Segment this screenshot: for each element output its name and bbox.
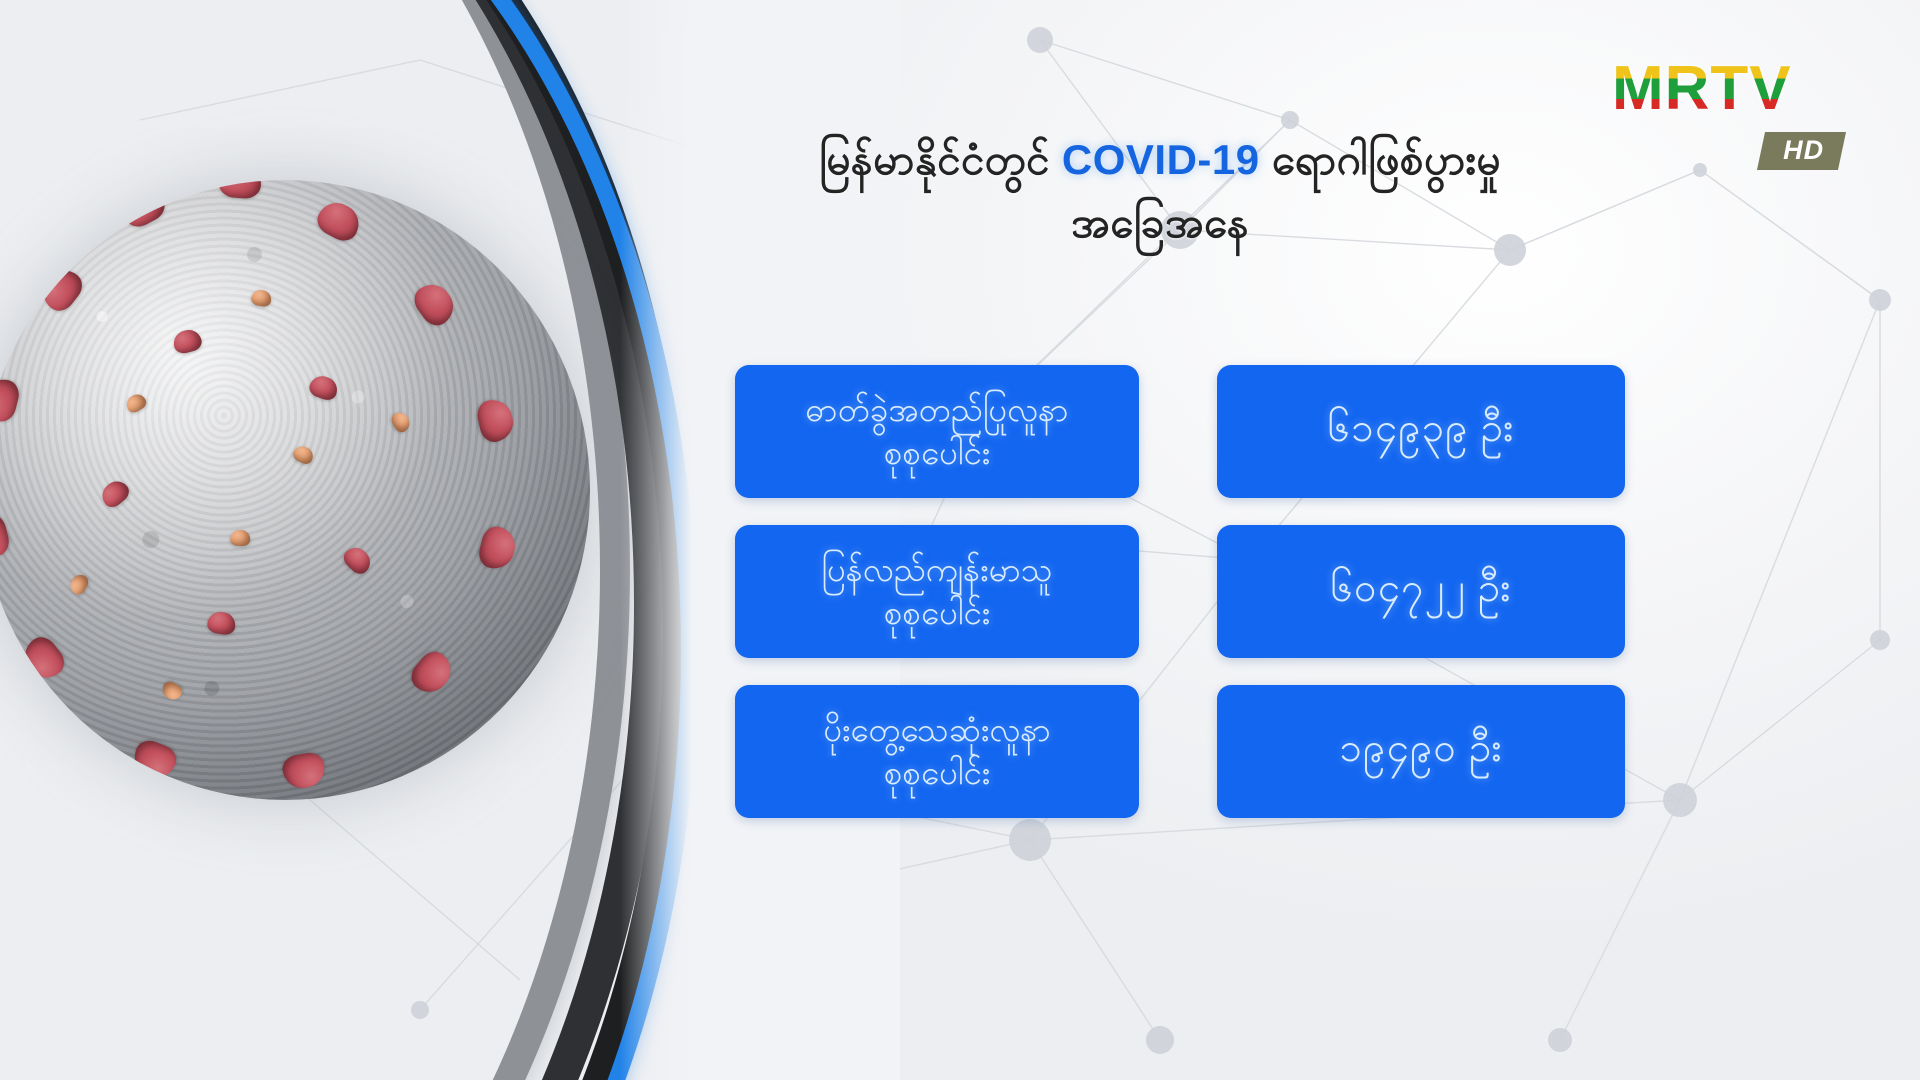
stat-label-confirmed: ဓာတ်ခွဲအတည်ပြုလူနာ စုစုပေါင်း (735, 365, 1139, 498)
stat-value-recovered: ၆၀၄၇၂၂ ဦး (1217, 525, 1625, 658)
stat-label-confirmed-line1: ဓာတ်ခွဲအတည်ပြုလူနာ (805, 391, 1068, 428)
stat-label-recovered-line1: ပြန်လည်ကျန်းမာသူ (821, 551, 1053, 588)
page-title: မြန်မာနိုင်ငံတွင် COVID-19 ရောဂါဖြစ်ပွား… (700, 128, 1620, 254)
stat-label-recovered-line2: စုစုပေါင်း (884, 594, 990, 631)
headline-segment-after: ရောဂါဖြစ်ပွားမှု (1272, 136, 1501, 183)
stat-label-confirmed-line2: စုစုပေါင်း (884, 434, 990, 471)
stat-row-deaths: ပိုးတွေ့သေဆုံးလူနာ စုစုပေါင်း ၁၉၄၉၀ ဦး (735, 685, 1625, 818)
stat-value-confirmed: ၆၁၄၉၃၉ ဦး (1217, 365, 1625, 498)
stat-label-recovered: ပြန်လည်ကျန်းမာသူ စုစုပေါင်း (735, 525, 1139, 658)
hd-badge: HD (1757, 132, 1846, 170)
stat-row-confirmed: ဓာတ်ခွဲအတည်ပြုလူနာ စုစုပေါင်း ၆၁၄၉၃၉ ဦး (735, 365, 1625, 498)
stat-label-deaths-line1: ပိုးတွေ့သေဆုံးလူနာ (823, 711, 1051, 748)
mrtv-wordmark: MRTV (1612, 58, 1842, 120)
headline-accent-covid19: COVID-19 (1062, 136, 1260, 183)
stat-label-deaths-line2: စုစုပေါင်း (884, 754, 990, 791)
mrtv-channel-logo: MRTV HD (1612, 58, 1842, 166)
covid-statistics-grid: ဓာတ်ခွဲအတည်ပြုလူနာ စုစုပေါင်း ၆၁၄၉၃၉ ဦး … (735, 365, 1625, 818)
stat-value-deaths: ၁၉၄၉၀ ဦး (1217, 685, 1625, 818)
hd-badge-label: HD (1783, 135, 1824, 166)
stat-label-deaths: ပိုးတွေ့သေဆုံးလူနာ စုစုပေါင်း (735, 685, 1139, 818)
coronavirus-illustration (0, 180, 590, 800)
virus-spike (230, 530, 251, 547)
headline-segment-before: မြန်မာနိုင်ငံတွင် (819, 136, 1050, 183)
broadcast-graphic-stage: MRTV HD မြန်မာနိုင်ငံတွင် COVID-19 ရောဂါ… (0, 0, 1920, 1080)
stat-row-recovered: ပြန်လည်ကျန်းမာသူ စုစုပေါင်း ၆၀၄၇၂၂ ဦး (735, 525, 1625, 658)
virus-highlight (0, 180, 590, 800)
headline-line2: အခြေအနေ (1071, 199, 1249, 246)
